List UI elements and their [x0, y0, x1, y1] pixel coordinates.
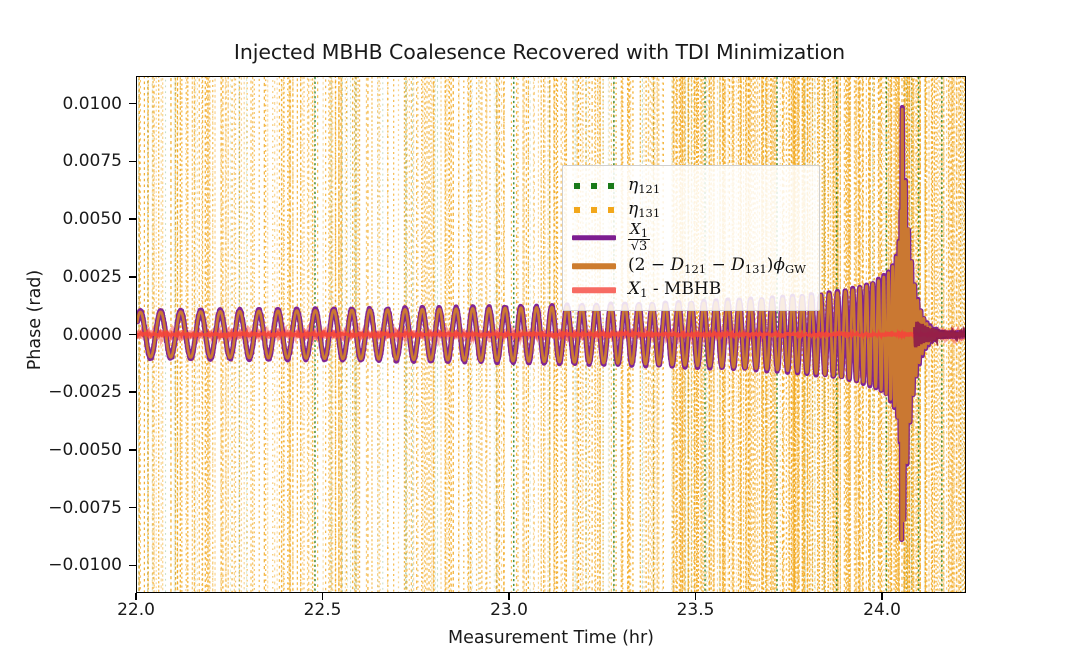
y-tick-label: −0.0075 — [48, 498, 122, 518]
plot-svg — [137, 77, 965, 592]
y-tick-label: 0.0050 — [63, 209, 122, 229]
sqrt3-denominator: √3 — [628, 239, 650, 254]
x-tick-mark — [135, 593, 137, 600]
legend-label-tdi-phi-gw: (2 − D121 − D131)ϕGW — [628, 256, 806, 276]
phi-gw-subscript: GW — [785, 262, 806, 276]
eta-131-subscript: 131 — [638, 206, 660, 220]
tdi-minus-sign: − — [706, 255, 731, 275]
y-tick-label: 0.0025 — [63, 267, 122, 287]
legend-label-x1-over-sqrt3: X1√3 — [628, 222, 650, 254]
legend-label-x1-minus-mbhb: X1 - MBHB — [628, 280, 721, 300]
x1-mbhb-rest: - MBHB — [647, 279, 721, 299]
y-tick-mark — [129, 218, 136, 220]
x-tick-label: 24.0 — [863, 600, 901, 620]
legend-item-eta-121[interactable]: η121 — [572, 174, 810, 197]
x-axis-label: Measurement Time (hr) — [136, 628, 966, 648]
y-tick-mark — [129, 103, 136, 105]
eta-symbol-2: η — [628, 199, 638, 219]
y-tick-label: −0.0100 — [48, 555, 122, 575]
eta-121-swatch-icon — [572, 176, 616, 196]
tdi-d-operator-2: D — [731, 255, 745, 275]
x-tick-label: 22.5 — [304, 600, 342, 620]
legend-item-tdi-phi-gw[interactable]: (2 − D121 − D131)ϕGW — [572, 255, 810, 278]
x-tick-mark — [881, 593, 883, 600]
y-tick-label: −0.0050 — [48, 440, 122, 460]
y-tick-mark — [129, 276, 136, 278]
tdi-swatch-icon — [572, 256, 616, 276]
tdi-d1-subscript: 121 — [684, 262, 706, 276]
phi-symbol: ϕ — [773, 255, 785, 275]
eta-symbol: η — [628, 175, 638, 195]
x-tick-mark — [322, 593, 324, 600]
x1-numerator: X — [630, 220, 641, 238]
residual-swatch-icon — [572, 280, 616, 300]
legend-item-x1-minus-mbhb[interactable]: X1 - MBHB — [572, 279, 810, 302]
x-tick-mark — [695, 593, 697, 600]
y-tick-mark — [129, 391, 136, 393]
y-tick-mark — [129, 565, 136, 567]
figure-canvas: Injected MBHB Coalesence Recovered with … — [0, 0, 1079, 667]
y-tick-label: 0.0100 — [63, 94, 122, 114]
y-tick-mark — [129, 507, 136, 509]
tdi-open-paren: (2 − — [628, 255, 671, 275]
eta-131-swatch-icon — [572, 200, 616, 220]
y-tick-mark — [129, 334, 136, 336]
page-title: Injected MBHB Coalesence Recovered with … — [0, 40, 1079, 64]
x-tick-label: 23.0 — [490, 600, 528, 620]
y-tick-label: 0.0075 — [63, 151, 122, 171]
x1-swatch-icon — [572, 228, 616, 248]
y-tick-mark — [129, 161, 136, 163]
legend-label-eta-131: η131 — [628, 200, 660, 220]
eta-121-subscript: 121 — [638, 182, 660, 196]
tdi-d-operator-1: D — [671, 255, 685, 275]
x-tick-mark — [508, 593, 510, 600]
y-tick-label: −0.0025 — [48, 382, 122, 402]
y-tick-label: 0.0000 — [63, 325, 122, 345]
legend-item-eta-131[interactable]: η131 — [572, 198, 810, 221]
y-tick-mark — [129, 449, 136, 451]
legend: η121 η131 X1√3 (2 − D121 − D131)ϕGW X1 -… — [562, 165, 820, 311]
y-axis-tick-labels: 0.01000.00750.00500.00250.0000−0.0025−0.… — [0, 0, 122, 667]
plot-area: η121 η131 X1√3 (2 − D121 − D131)ϕGW X1 -… — [136, 76, 966, 593]
x-tick-label: 22.0 — [117, 600, 155, 620]
legend-item-x1-over-sqrt3[interactable]: X1√3 — [572, 222, 810, 254]
x1-numerator-subscript: 1 — [641, 226, 648, 240]
x-tick-label: 23.5 — [677, 600, 715, 620]
y-axis-label: Phase (rad) — [25, 200, 45, 440]
tdi-d2-subscript: 131 — [745, 262, 767, 276]
legend-label-eta-121: η121 — [628, 176, 660, 196]
x1-label: X — [628, 279, 640, 299]
